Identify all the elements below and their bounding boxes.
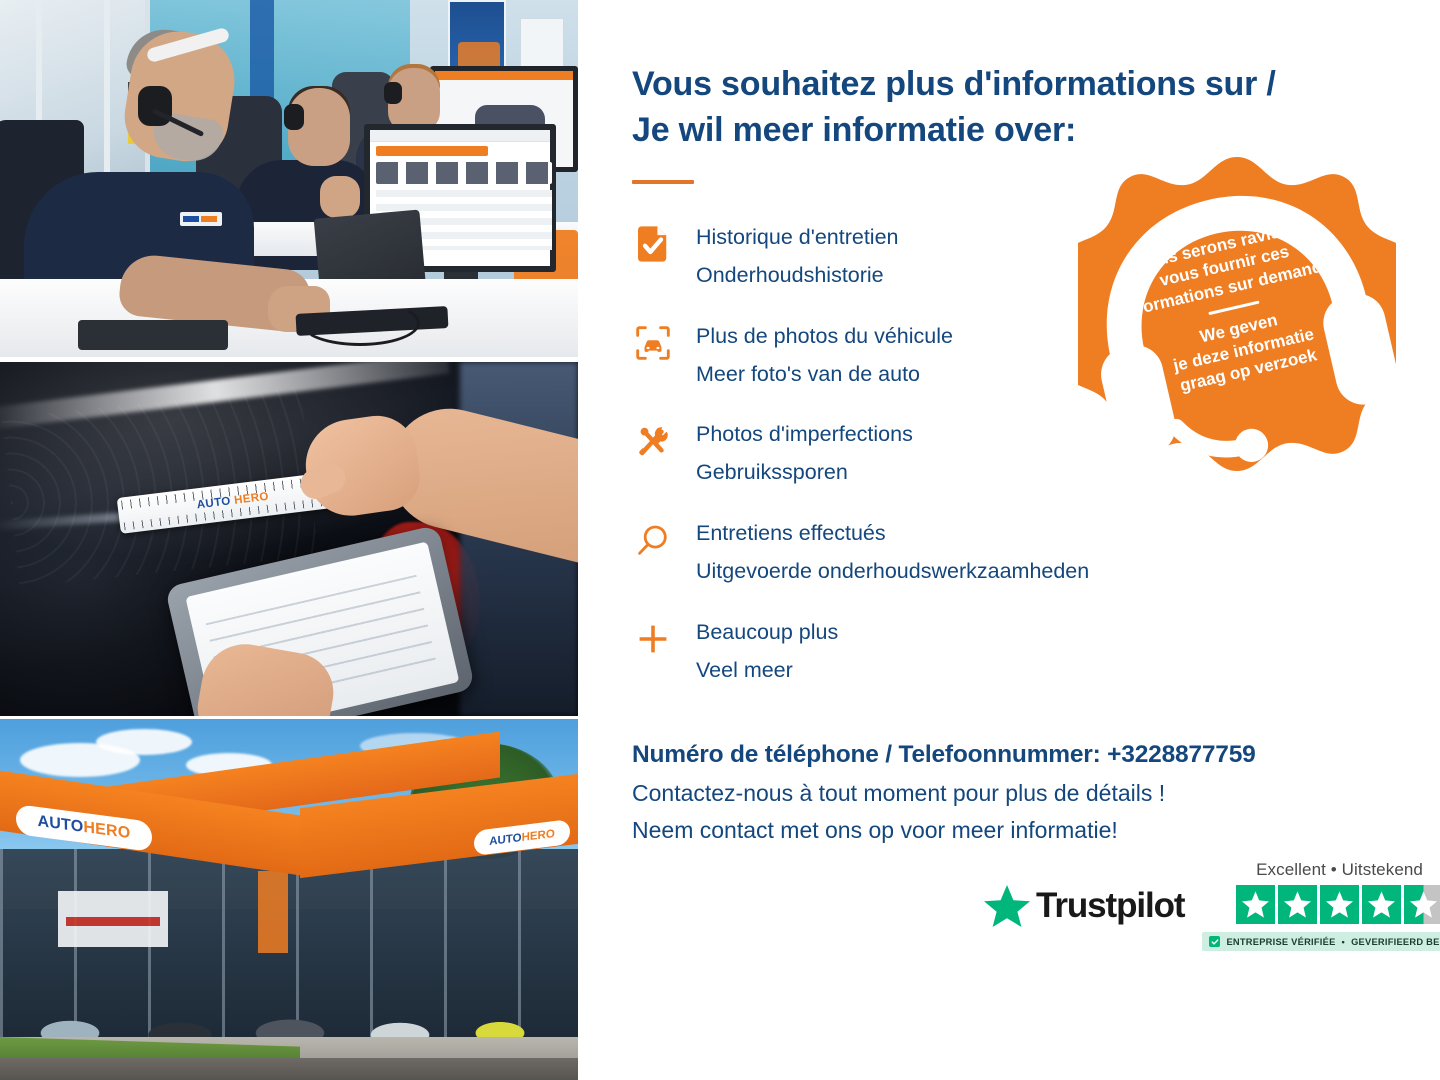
- trustpilot-logo: Trustpilot: [984, 884, 1184, 928]
- star-filled: [1236, 885, 1275, 924]
- feature-fr: Historique d'entretien: [696, 219, 899, 257]
- verified-separator: •: [1342, 937, 1346, 947]
- content-panel: Vous souhaitez plus d'informations sur /…: [578, 0, 1440, 1080]
- trustpilot-wordmark: Trustpilot: [1036, 886, 1184, 926]
- sign-right-text: AUTO: [489, 832, 521, 848]
- feature-fr: Beaucoup plus: [696, 614, 838, 652]
- check-icon: [1209, 936, 1220, 947]
- magnifier-icon: [632, 514, 674, 562]
- list-item: Beaucoup plus Veel meer: [632, 613, 1392, 690]
- star-half: [1404, 885, 1440, 924]
- headline-line-nl: Je wil meer informatie over:: [632, 111, 1076, 149]
- dealership-showroom-photo: AUTO HERO AUTO HERO: [0, 719, 578, 1080]
- trustpilot-widget[interactable]: Trustpilot Excellent • Uitstekend: [984, 860, 1440, 951]
- phone-number[interactable]: Numéro de téléphone / Telefoonnummer: +3…: [632, 741, 1392, 769]
- contact-block: Numéro de téléphone / Telefoonnummer: +3…: [632, 741, 1392, 848]
- list-item: Plus de photos du véhicule Meer foto's v…: [632, 317, 1392, 394]
- star-filled: [1278, 885, 1317, 924]
- title-divider: [632, 180, 694, 184]
- list-item: Photos d'imperfections Gebruikssporen: [632, 415, 1392, 492]
- feature-fr: Entretiens effectués: [696, 515, 1089, 553]
- headline-line-fr: Vous souhaitez plus d'informations sur /: [632, 65, 1276, 103]
- plus-icon: [632, 613, 674, 661]
- trustpilot-rating: Excellent • Uitstekend: [1202, 860, 1440, 951]
- list-item: Historique d'entretien Onderhoudshistori…: [632, 218, 1392, 295]
- tools-icon: [632, 415, 674, 463]
- rating-label: Excellent • Uitstekend: [1256, 860, 1423, 880]
- contact-line-nl: Neem contact met ons op voor meer inform…: [632, 813, 1392, 848]
- star-rating: [1236, 885, 1440, 924]
- feature-fr: Photos d'imperfections: [696, 416, 913, 454]
- list-item-text: Plus de photos du véhicule Meer foto's v…: [696, 317, 953, 394]
- verified-label-fr: ENTREPRISE VÉRIFIÉE: [1226, 937, 1335, 947]
- feature-nl: Meer foto's van de auto: [696, 356, 953, 394]
- list-item-text: Entretiens effectués Uitgevoerde onderho…: [696, 514, 1089, 591]
- brand-suffix: HERO: [522, 827, 555, 843]
- star-filled: [1320, 885, 1359, 924]
- feature-nl: Gebruikssporen: [696, 454, 913, 492]
- list-item-text: Photos d'imperfections Gebruikssporen: [696, 415, 913, 492]
- brand-suffix: HERO: [83, 819, 130, 843]
- list-item-text: Historique d'entretien Onderhoudshistori…: [696, 218, 899, 295]
- feature-fr: Plus de photos du véhicule: [696, 318, 953, 356]
- trustpilot-star-icon: [984, 884, 1030, 928]
- photo-column: AUTO HERO: [0, 0, 578, 1080]
- call-center-agents-photo: [0, 0, 578, 357]
- sign-left-text: AUTO: [37, 813, 83, 837]
- verified-label-nl: GEVERIFIEERD BEDRIJF: [1351, 937, 1440, 947]
- verified-badge: ENTREPRISE VÉRIFIÉE • GEVERIFIEERD BEDRI…: [1202, 932, 1440, 951]
- vehicle-inspection-photo: AUTO HERO: [0, 362, 578, 716]
- page-title: Vous souhaitez plus d'informations sur /…: [632, 62, 1392, 153]
- document-check-icon: [632, 218, 674, 266]
- promo-page: AUTO HERO: [0, 0, 1440, 1080]
- feature-nl: Onderhoudshistorie: [696, 257, 899, 295]
- star-filled: [1362, 885, 1401, 924]
- list-item: Entretiens effectués Uitgevoerde onderho…: [632, 514, 1392, 591]
- contact-line-fr: Contactez-nous à tout moment pour plus d…: [632, 776, 1392, 811]
- car-scan-icon: [632, 317, 674, 365]
- feature-list: Historique d'entretien Onderhoudshistori…: [632, 218, 1392, 689]
- feature-nl: Veel meer: [696, 652, 838, 690]
- list-item-text: Beaucoup plus Veel meer: [696, 613, 838, 690]
- agent-name-badge: [180, 212, 222, 226]
- feature-nl: Uitgevoerde onderhoudswerkzaamheden: [696, 553, 1089, 591]
